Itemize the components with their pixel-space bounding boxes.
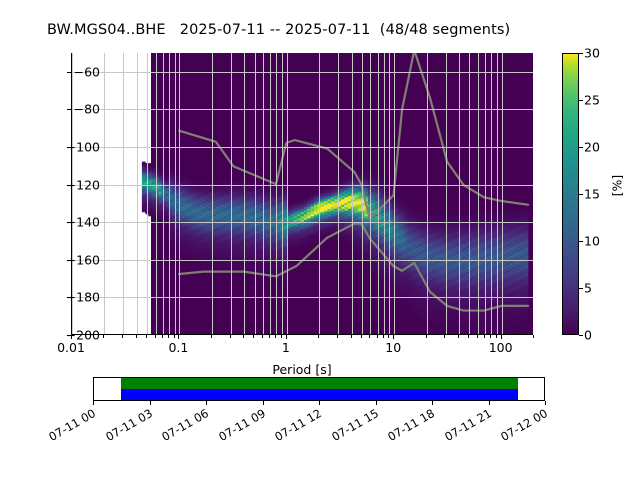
grid-line-vertical bbox=[212, 53, 213, 334]
colorbar-tick-label: 5 bbox=[584, 281, 592, 296]
grid-line-horizontal bbox=[72, 109, 533, 110]
grid-line-vertical bbox=[179, 53, 180, 334]
ppsd-plot-area bbox=[71, 53, 533, 335]
x-tick-mark bbox=[383, 335, 384, 338]
ppsd-figure: BW.MGS04..BHE 2025-07-11 -- 2025-07-11 (… bbox=[0, 0, 640, 480]
x-tick-mark bbox=[155, 335, 156, 338]
grid-line-vertical bbox=[282, 53, 283, 334]
grid-line-vertical bbox=[394, 53, 395, 334]
colorbar-tick-mark bbox=[579, 288, 583, 289]
grid-line-vertical bbox=[427, 53, 428, 334]
colorbar bbox=[562, 53, 579, 335]
colorbar-tick-mark bbox=[579, 335, 583, 336]
x-tick-label: 0.1 bbox=[168, 340, 188, 355]
x-tick-mark bbox=[490, 335, 491, 338]
x-tick-mark bbox=[211, 335, 212, 338]
grid-line-vertical bbox=[276, 53, 277, 334]
x-tick-mark bbox=[377, 335, 378, 338]
timeline-tick-mark bbox=[319, 401, 320, 405]
x-tick-mark bbox=[275, 335, 276, 338]
colorbar-tick-mark bbox=[579, 194, 583, 195]
colorbar-tick-label: 20 bbox=[584, 140, 600, 155]
y-tick-mark bbox=[67, 109, 71, 110]
colorbar-tick-mark bbox=[579, 100, 583, 101]
y-tick-mark bbox=[67, 72, 71, 73]
grid-line-vertical bbox=[123, 53, 124, 334]
x-tick-mark bbox=[162, 335, 163, 338]
x-tick-mark bbox=[501, 335, 502, 339]
x-tick-mark bbox=[444, 335, 445, 338]
grid-line-horizontal bbox=[72, 185, 533, 186]
timeline-tick-label: 07-11 09 bbox=[216, 406, 268, 444]
x-tick-mark bbox=[281, 335, 282, 338]
grid-line-vertical bbox=[255, 53, 256, 334]
timeline-tick-label: 07-11 18 bbox=[385, 406, 437, 444]
grid-line-horizontal bbox=[72, 297, 533, 298]
x-tick-mark bbox=[388, 335, 389, 338]
timeline-tick-mark bbox=[545, 401, 546, 405]
colorbar-tick-label: 0 bbox=[584, 328, 592, 343]
grid-line-vertical bbox=[231, 53, 232, 334]
grid-line-vertical bbox=[319, 53, 320, 334]
timeline-tick-label: 07-11 00 bbox=[46, 406, 98, 444]
page-title: BW.MGS04..BHE 2025-07-11 -- 2025-07-11 (… bbox=[47, 22, 510, 38]
x-tick-mark bbox=[484, 335, 485, 338]
grid-line-horizontal bbox=[72, 147, 533, 148]
y-tick-mark bbox=[67, 222, 71, 223]
grid-line-vertical bbox=[446, 53, 447, 334]
y-tick-mark bbox=[67, 297, 71, 298]
grid-line-vertical bbox=[147, 53, 148, 334]
x-axis-label: Period [s] bbox=[71, 362, 533, 377]
timeline-tick-mark bbox=[206, 401, 207, 405]
colorbar-label: [%] bbox=[610, 166, 625, 206]
grid-line-vertical bbox=[478, 53, 479, 334]
colorbar-tick-mark bbox=[579, 241, 583, 242]
timeline-tick-label: 07-11 21 bbox=[442, 406, 494, 444]
x-tick-mark bbox=[136, 335, 137, 338]
grid-line-horizontal bbox=[72, 72, 533, 73]
timeline-tick-mark bbox=[376, 401, 377, 405]
timeline-tick-label: 07-11 12 bbox=[272, 406, 324, 444]
grid-line-vertical bbox=[459, 53, 460, 334]
timeline-data-bar bbox=[121, 378, 518, 389]
y-tick-mark bbox=[67, 185, 71, 186]
grid-line-vertical bbox=[384, 53, 385, 334]
grid-line-vertical bbox=[163, 53, 164, 334]
x-tick-mark bbox=[458, 335, 459, 338]
x-tick-mark bbox=[168, 335, 169, 338]
x-tick-label: 100 bbox=[489, 340, 513, 355]
x-tick-mark bbox=[533, 335, 534, 338]
colorbar-tick-label: 10 bbox=[584, 234, 600, 249]
x-tick-mark bbox=[71, 335, 72, 339]
grid-line-vertical bbox=[244, 53, 245, 334]
timeline-tick-mark bbox=[489, 401, 490, 405]
x-tick-mark bbox=[262, 335, 263, 338]
grid-line-vertical bbox=[485, 53, 486, 334]
x-tick-mark bbox=[230, 335, 231, 338]
x-tick-label: 1 bbox=[282, 340, 290, 355]
x-tick-mark bbox=[393, 335, 394, 339]
x-tick-label: 10 bbox=[385, 340, 401, 355]
x-tick-mark bbox=[468, 335, 469, 338]
x-tick-mark bbox=[178, 335, 179, 339]
grid-line-vertical bbox=[156, 53, 157, 334]
noise-model-curves bbox=[72, 53, 533, 334]
timeline-tick-mark bbox=[263, 401, 264, 405]
grid-line-vertical bbox=[469, 53, 470, 334]
colorbar-tick-label: 25 bbox=[584, 93, 600, 108]
colorbar-tick-label: 15 bbox=[584, 187, 600, 202]
x-tick-mark bbox=[361, 335, 362, 338]
timeline-coverage-bar bbox=[121, 389, 518, 400]
x-tick-mark bbox=[286, 335, 287, 339]
timeline-tick-label: 07-11 15 bbox=[329, 406, 381, 444]
x-tick-mark bbox=[122, 335, 123, 338]
grid-line-vertical bbox=[389, 53, 390, 334]
x-tick-mark bbox=[243, 335, 244, 338]
timeline-tick-label: 07-11 03 bbox=[103, 406, 155, 444]
grid-line-vertical bbox=[378, 53, 379, 334]
x-tick-mark bbox=[426, 335, 427, 338]
colorbar-tick-mark bbox=[579, 147, 583, 148]
grid-line-vertical bbox=[104, 53, 105, 334]
grid-line-vertical bbox=[497, 53, 498, 334]
grid-line-vertical bbox=[352, 53, 353, 334]
grid-line-vertical bbox=[263, 53, 264, 334]
grid-line-vertical bbox=[287, 53, 288, 334]
timeline-tick-mark bbox=[93, 401, 94, 405]
x-tick-mark bbox=[318, 335, 319, 338]
y-tick-mark bbox=[67, 260, 71, 261]
grid-line-vertical bbox=[338, 53, 339, 334]
colorbar-tick-label: 30 bbox=[584, 46, 600, 61]
grid-line-vertical bbox=[175, 53, 176, 334]
timeline-tick-label: 07-11 06 bbox=[159, 406, 211, 444]
grid-line-vertical bbox=[362, 53, 363, 334]
x-tick-mark bbox=[174, 335, 175, 338]
grid-line-vertical bbox=[270, 53, 271, 334]
colorbar-tick-mark bbox=[579, 53, 583, 54]
timeline-tick-mark bbox=[150, 401, 151, 405]
x-tick-mark bbox=[146, 335, 147, 338]
x-tick-mark bbox=[269, 335, 270, 338]
x-tick-mark bbox=[351, 335, 352, 338]
timeline-tick-mark bbox=[432, 401, 433, 405]
x-tick-mark bbox=[337, 335, 338, 338]
x-tick-mark bbox=[369, 335, 370, 338]
grid-line-vertical bbox=[491, 53, 492, 334]
timeline-axes bbox=[93, 377, 545, 401]
x-tick-label: 0.01 bbox=[57, 340, 85, 355]
x-tick-mark bbox=[253, 335, 254, 338]
grid-line-vertical bbox=[169, 53, 170, 334]
x-tick-mark bbox=[477, 335, 478, 338]
grid-line-vertical bbox=[502, 53, 503, 334]
grid-line-vertical bbox=[137, 53, 138, 334]
grid-line-vertical bbox=[370, 53, 371, 334]
x-tick-mark bbox=[103, 335, 104, 338]
x-tick-mark bbox=[496, 335, 497, 338]
timeline-tick-label: 07-12 00 bbox=[498, 406, 550, 444]
grid-line-horizontal bbox=[72, 260, 533, 261]
grid-line-horizontal bbox=[72, 222, 533, 223]
y-tick-mark bbox=[67, 147, 71, 148]
